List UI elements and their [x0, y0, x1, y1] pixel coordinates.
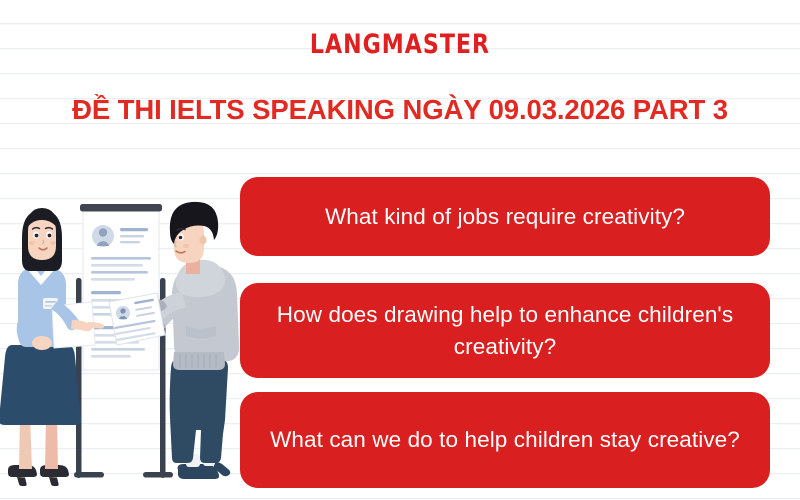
cv-document-handheld [109, 293, 165, 345]
page-title: ĐỀ THI IELTS SPEAKING NGÀY 09.03.2026 PA… [0, 95, 800, 125]
poster-canvas: LANGMASTER ĐỀ THI IELTS SPEAKING NGÀY 09… [0, 0, 800, 500]
question-card-2[interactable]: How does drawing help to enhance childre… [240, 283, 770, 378]
question-text-2: How does drawing help to enhance childre… [266, 299, 744, 363]
question-text-3: What can we do to help children stay cre… [270, 424, 740, 456]
question-card-3[interactable]: What can we do to help children stay cre… [240, 392, 770, 488]
question-text-1: What kind of jobs require creativity? [325, 201, 685, 233]
question-card-1[interactable]: What kind of jobs require creativity? [240, 177, 770, 256]
illustration-interview-scene [0, 180, 240, 500]
brand-logo: LANGMASTER [72, 31, 728, 58]
